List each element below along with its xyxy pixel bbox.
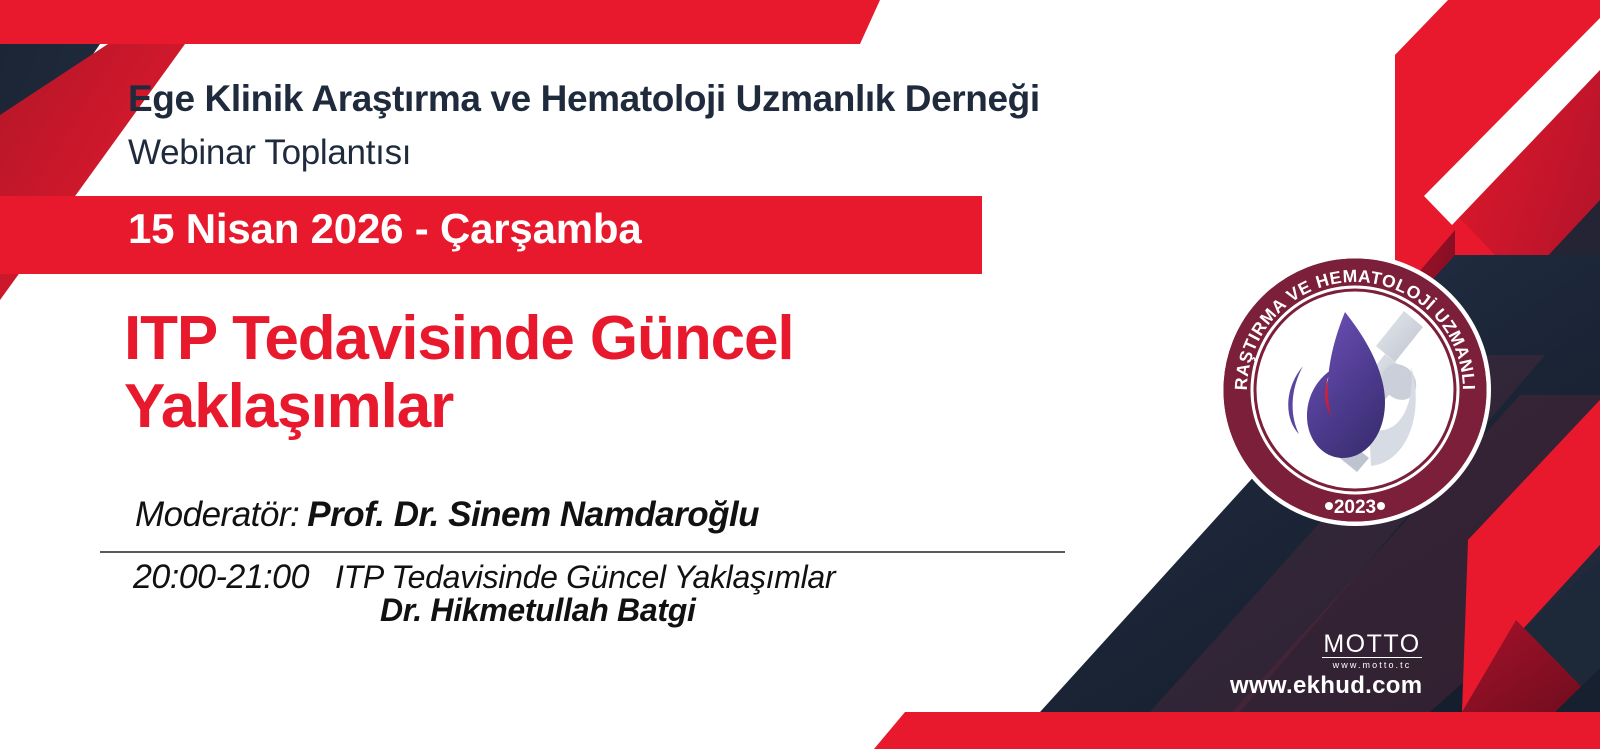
motto-url: www.motto.tc [1322,660,1422,670]
headline-line-1: ITP Tedavisinde Güncel [124,305,794,373]
motto-wordmark: MOTTO [1322,632,1422,658]
session-topic: ITP Tedavisinde Güncel Yaklaşımlar [335,559,835,595]
event-headline: ITP Tedavisinde Güncel Yaklaşımlar [124,305,794,441]
banner-content: Ege Klinik Araştırma ve Hematoloji Uzman… [0,0,1600,749]
session-speaker: Dr. Hikmetullah Batgi [380,592,696,629]
schedule-divider [100,551,1065,553]
moderator-label: Moderatör: [135,495,299,534]
organization-title: Ege Klinik Araştırma ve Hematoloji Uzman… [128,78,1040,120]
webinar-banner: ARAŞTIRMA VE HEMATOLOJİ UZMANLIK EGE KLİ… [0,0,1600,749]
moderator-name: Prof. Dr. Sinem Namdaroğlu [307,495,759,534]
organization-subtitle: Webinar Toplantısı [128,133,411,173]
website-url[interactable]: www.ekhud.com [1230,672,1422,700]
event-date: 15 Nisan 2026 - Çarşamba [128,205,642,253]
headline-line-2: Yaklaşımlar [124,373,794,441]
moderator-row: Moderatör:Prof. Dr. Sinem Namdaroğlu [135,495,759,535]
session-time: 20:00-21:00 [133,558,309,596]
motto-agency-logo[interactable]: MOTTO www.motto.tc [1322,632,1422,670]
